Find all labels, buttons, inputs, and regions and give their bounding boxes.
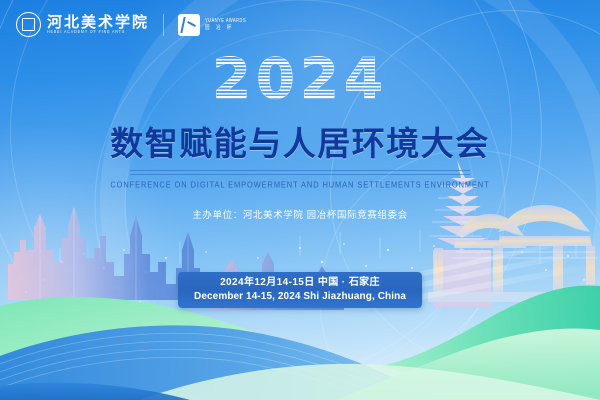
- yuanye-logo[interactable]: YUANYE AWARDS 园 冶 杯: [178, 14, 246, 36]
- academy-seal-icon: [16, 12, 41, 37]
- academy-logo[interactable]: 河北美术学院 HEBEI ACADEMY OF FINE ARTS: [16, 12, 149, 37]
- date-location-badge: 2024年12月14-15日 中国 · 石家庄 December 14-15, …: [178, 272, 422, 308]
- date-location-en: December 14-15, 2024 Shi Jiazhuang, Chin…: [194, 290, 406, 304]
- title-divider: [130, 170, 470, 175]
- page-title-en: CONFERENCE ON DIGITAL EMPOWERMENT AND HU…: [0, 180, 600, 190]
- yuanye-mark-icon: [178, 14, 200, 36]
- academy-name-cn: 河北美术学院: [47, 15, 149, 30]
- yuanye-logo-text: YUANYE AWARDS 园 冶 杯: [205, 19, 246, 30]
- page-title-cn: 数智赋能与人居环境大会: [0, 126, 600, 163]
- year-2024: 2024: [212, 52, 388, 108]
- academy-name-en: HEBEI ACADEMY OF FINE ARTS: [47, 30, 149, 34]
- yuanye-name-cn: 园 冶 杯: [205, 25, 246, 31]
- date-location-cn: 2024年12月14-15日 中国 · 石家庄: [194, 276, 406, 290]
- organizer-line: 主办单位：河北美术学院 园冶杯国际竞赛组委会: [0, 207, 600, 221]
- logo-bar: 河北美术学院 HEBEI ACADEMY OF FINE ARTS YUANYE…: [16, 12, 246, 37]
- year-block: 2024: [0, 52, 600, 108]
- logo-divider: [163, 14, 164, 36]
- conference-poster: 河北美术学院 HEBEI ACADEMY OF FINE ARTS YUANYE…: [0, 0, 600, 400]
- academy-logo-text: 河北美术学院 HEBEI ACADEMY OF FINE ARTS: [47, 15, 149, 35]
- title-block: 数智赋能与人居环境大会 CONFERENCE ON DIGITAL EMPOWE…: [0, 126, 600, 189]
